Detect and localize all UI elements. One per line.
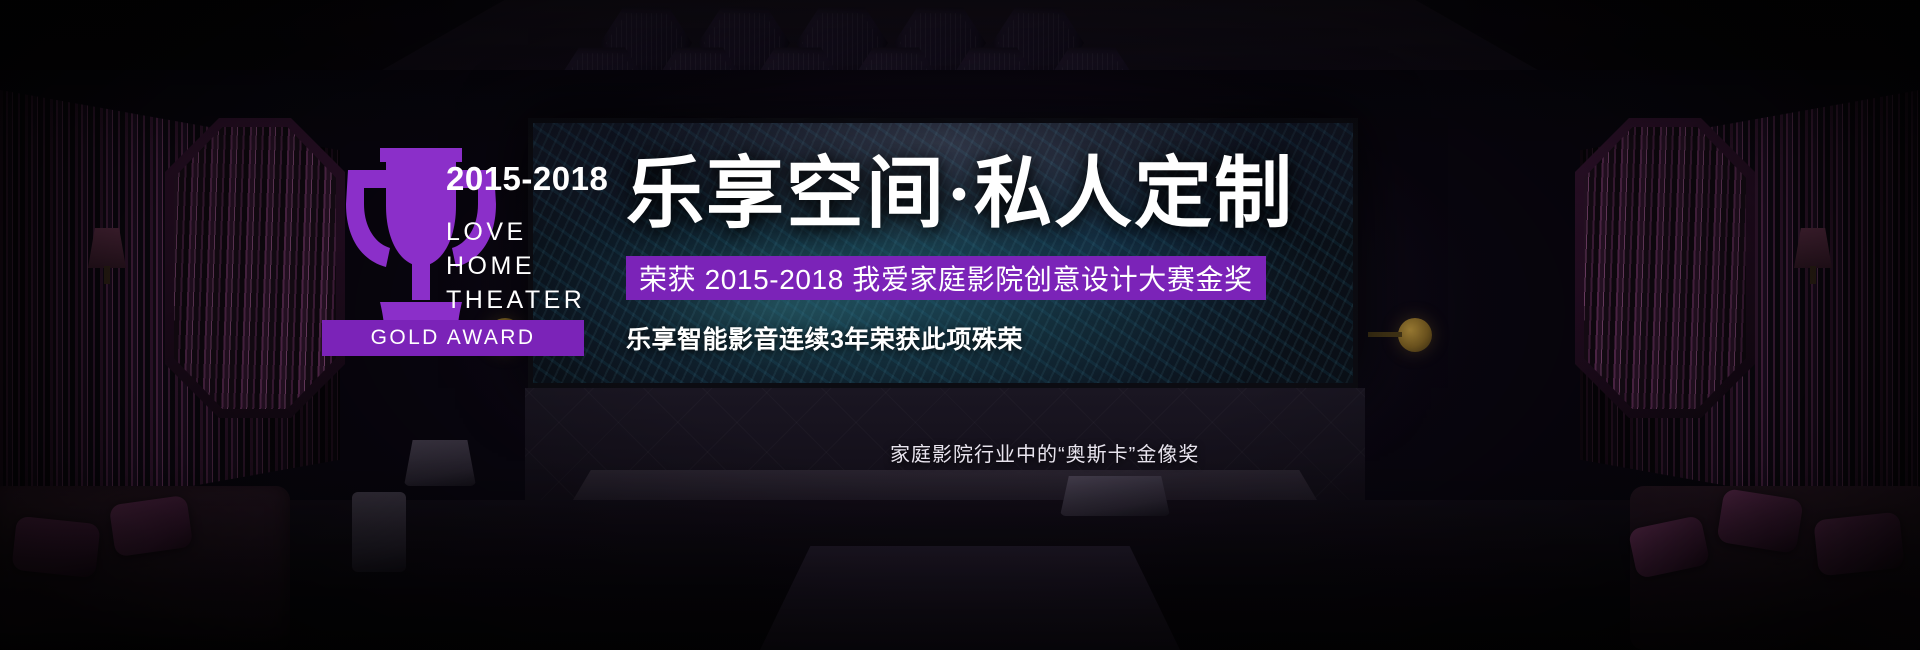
award-highlight-bar: 荣获 2015-2018 我爱家庭影院创意设计大赛金奖 [626,256,1266,300]
award-line-love: LOVE [446,215,626,249]
gold-award-badge: GOLD AWARD [322,320,584,356]
award-line-home: HOME [446,249,626,283]
gold-award-label: GOLD AWARD [371,326,536,350]
sub-headline: 乐享智能影音连续3年荣获此项殊荣 [626,320,1023,356]
award-line-theater: THEATER [446,283,626,317]
award-years: 2015-2018 [446,162,626,195]
bottom-tagline: 家庭影院行业中的“奥斯卡”金像奖 [890,438,1199,467]
banner-content: 2015-2018 LOVE HOME THEATER GOLD AWARD 乐… [0,0,1920,650]
award-bar-text: 荣获 2015-2018 我爱家庭影院创意设计大赛金奖 [639,258,1253,298]
page-title: 乐享空间·私人定制 [626,155,1294,233]
home-theater-promo-banner: 2015-2018 LOVE HOME THEATER GOLD AWARD 乐… [0,0,1920,650]
award-lines: LOVE HOME THEATER [446,215,626,317]
award-caption-block: 2015-2018 LOVE HOME THEATER [446,162,626,317]
